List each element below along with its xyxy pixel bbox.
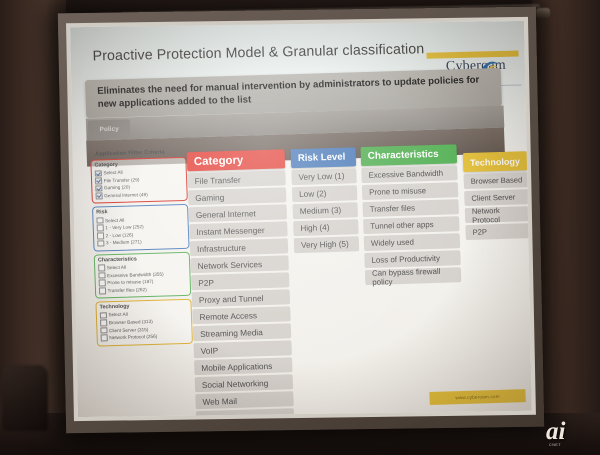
column-technology: Technology Browser BasedClient ServerNet…	[463, 151, 530, 240]
criteria-item-label: Select All	[107, 265, 126, 271]
criteria-group-risk: RiskSelect All1 - Very Low (252)2 - Low …	[92, 204, 190, 251]
application-filter-criteria-panel: Application Filter Criteria CategorySele…	[90, 149, 193, 349]
background-ghost-text-right	[468, 294, 531, 329]
criteria-group-characteristics: CharacteristicsSelect AllExcessive Bandw…	[94, 252, 192, 299]
list-item[interactable]: Web Mail	[195, 391, 293, 409]
list-item[interactable]: Network Services	[190, 255, 288, 273]
list-item[interactable]: Excessive Bandwidth	[361, 165, 457, 183]
list-item[interactable]: File Transfer	[187, 170, 285, 188]
column-header-risk-level: Risk Level	[291, 147, 357, 168]
column-items-risk-level: Very Low (1)Low (2)Medium (3)High (4)Ver…	[291, 168, 359, 253]
checkbox-icon[interactable]	[101, 335, 108, 342]
footer-url: www.cyberoam.com	[455, 394, 499, 400]
criteria-item-label: 1 - Very Low (252)	[105, 224, 143, 230]
criteria-item-label: Client Server (315)	[109, 327, 149, 333]
list-item[interactable]: High (4)	[293, 219, 359, 236]
subtitle-text: Eliminates the need for manual intervent…	[97, 73, 494, 111]
list-item[interactable]: Proxy and Tunnel	[192, 289, 290, 307]
criteria-item-label: 2 - Low (126)	[106, 232, 134, 238]
photographed-room: Proactive Protection Model & Granular cl…	[0, 0, 600, 455]
list-item[interactable]: Medium (3)	[292, 202, 358, 219]
list-item[interactable]: Can bypass firewall policy	[365, 267, 461, 285]
presentation-slide: Proactive Protection Model & Granular cl…	[70, 21, 532, 417]
projector-screen: Proactive Protection Model & Granular cl…	[66, 17, 536, 421]
checkbox-icon[interactable]	[99, 287, 106, 294]
chair-silhouette	[2, 365, 48, 431]
criteria-item-label: Browser Based (313)	[109, 319, 153, 325]
criteria-item-label: Select All	[108, 312, 127, 318]
list-item[interactable]: Client Server	[464, 189, 529, 206]
classification-columns: Category File TransferGamingGeneral Inte…	[187, 142, 532, 414]
checkbox-icon[interactable]	[100, 327, 107, 334]
criteria-checkbox-row[interactable]: General Internet (49)	[95, 190, 183, 200]
criteria-group-category: CategorySelect AllFile Transfer (29)Gami…	[90, 157, 188, 204]
checkbox-icon[interactable]	[98, 265, 105, 272]
checkbox-icon[interactable]	[100, 312, 107, 319]
list-item[interactable]: Very High (5)	[294, 236, 360, 253]
list-item[interactable]: Widely used	[364, 233, 460, 251]
checkbox-icon[interactable]	[97, 232, 104, 239]
criteria-checkbox-row[interactable]: Transfer files (262)	[99, 284, 187, 294]
criteria-checkbox-row[interactable]: Network Protocol (256)	[101, 332, 189, 342]
column-category: Category File TransferGamingGeneral Inte…	[187, 149, 295, 417]
list-item[interactable]: Infrastructure	[190, 238, 288, 256]
column-items-characteristics: Excessive BandwidthProne to misuseTransf…	[361, 165, 461, 285]
list-item[interactable]: Prone to misuse	[362, 182, 458, 200]
list-item[interactable]: Tunnel other apps	[363, 216, 459, 234]
criteria-item-label: Gaming (20)	[104, 185, 130, 191]
source-watermark: ai CNET	[546, 417, 590, 447]
list-item[interactable]: Social Networking	[195, 374, 293, 392]
list-item[interactable]: VoIP	[193, 340, 291, 358]
list-item[interactable]: Gaming	[188, 187, 286, 205]
criteria-item-label: 3 - Medium (271)	[106, 240, 142, 246]
projector-screen-frame: Proactive Protection Model & Granular cl…	[58, 7, 544, 434]
criteria-group-technology: TechnologySelect AllBrowser Based (313)C…	[95, 299, 193, 346]
criteria-item-label: General Internet (49)	[104, 192, 148, 198]
column-characteristics: Characteristics Excessive BandwidthProne…	[360, 144, 461, 285]
tab-policy[interactable]: Policy	[88, 119, 131, 138]
list-item[interactable]: Transfer files	[362, 199, 458, 217]
checkbox-icon[interactable]	[97, 240, 104, 247]
list-item[interactable]: Low (2)	[292, 185, 358, 202]
criteria-item-label: Select All	[105, 217, 124, 223]
watermark-text: ai	[546, 419, 565, 444]
list-item[interactable]: Instant Messenger	[189, 221, 287, 239]
checkbox-icon[interactable]	[95, 177, 102, 184]
column-items-category: File TransferGamingGeneral InternetInsta…	[187, 170, 294, 417]
column-items-technology: Browser BasedClient ServerNetwork Protoc…	[464, 172, 530, 240]
list-item[interactable]: Remote Access	[192, 306, 290, 324]
checkbox-icon[interactable]	[99, 280, 106, 287]
criteria-checkbox-row[interactable]: 3 - Medium (271)	[97, 237, 185, 247]
checkbox-icon[interactable]	[98, 272, 105, 279]
list-item[interactable]: Streaming Media	[193, 323, 291, 341]
checkbox-icon[interactable]	[96, 193, 103, 200]
list-item[interactable]: And more ...	[196, 408, 294, 417]
list-item[interactable]: Mobile Applications	[194, 357, 292, 375]
criteria-item-label: File Transfer (29)	[104, 177, 140, 183]
background-ghost-text-bottom	[298, 363, 368, 371]
checkbox-icon[interactable]	[100, 320, 107, 327]
list-item[interactable]: P2P	[465, 223, 530, 240]
criteria-group-list: CategorySelect AllFile Transfer (29)Gami…	[90, 157, 193, 346]
list-item[interactable]: General Internet	[189, 204, 287, 222]
checkbox-icon[interactable]	[97, 225, 104, 232]
list-item[interactable]: P2P	[191, 272, 289, 290]
criteria-item-label: Network Protocol (256)	[109, 334, 157, 340]
column-header-category: Category	[187, 149, 286, 171]
criteria-item-label: Select All	[103, 170, 122, 176]
column-header-characteristics: Characteristics	[360, 144, 457, 166]
checkbox-icon[interactable]	[95, 170, 102, 177]
watermark-subtext: CNET	[549, 443, 561, 447]
criteria-item-label: Prone to misuse (187)	[107, 279, 153, 285]
column-risk-level: Risk Level Very Low (1)Low (2)Medium (3)…	[291, 147, 360, 253]
background-ghost-text-left	[294, 253, 361, 291]
checkbox-icon[interactable]	[95, 185, 102, 192]
list-item[interactable]: Very Low (1)	[291, 168, 357, 185]
screen-mount-knob	[536, 8, 550, 18]
list-item[interactable]: Network Protocol	[465, 206, 530, 223]
column-header-technology: Technology	[463, 151, 528, 172]
list-item[interactable]: Browser Based	[464, 172, 529, 189]
criteria-item-label: Transfer files (262)	[108, 287, 147, 293]
checkbox-icon[interactable]	[96, 217, 103, 224]
